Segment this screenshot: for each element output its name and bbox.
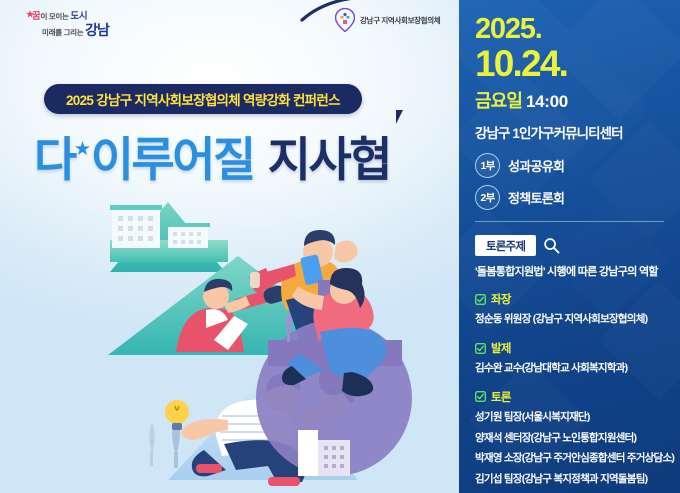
event-time-row: 금요일14:00 [475, 87, 666, 113]
gangnam-slogan-logo: 꿈이 모이는 도시 미래를 그리는 강남 [14, 8, 122, 36]
panel-divider [475, 221, 664, 222]
section-chair-title: 좌장 [491, 291, 511, 307]
page-title: 다 이루어질 지사협 [34, 124, 454, 186]
section-chair: 좌장 정순동 위원장 (강남구 지역사회보장협의체) [475, 291, 666, 328]
section-panel: 토론 성기원 팀장(서울시복지재단) 양재석 센터장(강남구 노인통합지원센터)… [475, 389, 666, 493]
conference-ribbon-text: 2025 강남구 지역사회보장협의체 역량강화 컨퍼런스 [66, 89, 340, 109]
section-panel-title: 토론 [491, 389, 511, 405]
star-icon [75, 141, 90, 156]
program-part-row: 2부 정책토론회 [475, 185, 666, 210]
section-presenter-header: 발제 [475, 340, 666, 356]
chair-person: 정순동 위원장 (강남구 지역사회보장협의체) [475, 312, 666, 328]
panelist: 양재석 센터장(강남구 노인통합지원센터) [475, 431, 666, 447]
presenter-person: 김수완 교수(강남대학교 사회복지학과) [475, 361, 666, 377]
ribbon-tail [396, 110, 406, 124]
program-parts-list: 1부 성과공유회 2부 정책토론회 [475, 153, 666, 210]
panelist: 김기섭 팀장(강남구 복지정책과 지역돌봄팀) [475, 472, 666, 488]
topic-chip-label: 토론주제 [475, 235, 536, 256]
event-year: 2025. [475, 14, 666, 44]
title-swoosh-decoration [300, 0, 370, 22]
left-content-pane: 꿈이 모이는 도시 미래를 그리는 강남 강남구 지역사회보장협의체 2025 … [0, 0, 459, 493]
topic-header: 토론주제 [475, 235, 666, 256]
topic-statement: '돌봄통합지원법' 시행에 따른 강남구의 역할 [475, 263, 666, 279]
event-date: 10.24. [475, 45, 666, 84]
event-venue: 강남구 1인가구커뮤니티센터 [475, 122, 666, 142]
event-info-content: 2025. 10.24. 금요일14:00 강남구 1인가구커뮤니티센터 1부 … [459, 0, 680, 493]
section-panel-header: 토론 [475, 389, 666, 405]
event-time: 14:00 [526, 92, 568, 111]
building-group-left [110, 205, 210, 248]
section-chair-header: 좌장 [475, 291, 666, 307]
section-presenter-title: 발제 [491, 340, 511, 356]
magnifier-icon [543, 237, 560, 254]
part-badge-1: 1부 [475, 153, 500, 178]
check-square-icon [475, 343, 486, 354]
check-square-icon [475, 294, 486, 305]
part-label-2: 정책토론회 [508, 188, 564, 207]
conference-ribbon: 2025 강남구 지역사회보장협의체 역량강화 컨퍼런스 [44, 84, 362, 114]
gangnam-brand-word: 강남 [85, 22, 109, 38]
event-day-of-week: 금요일 [475, 91, 522, 111]
part-label-1: 성과공유회 [508, 156, 564, 175]
section-presenter: 발제 김수완 교수(강남대학교 사회복지학과) [475, 340, 666, 377]
council-logo-text: 강남구 지역사회보장협의체 [360, 15, 440, 26]
check-square-icon [475, 391, 486, 402]
poster-root: 꿈이 모이는 도시 미래를 그리는 강남 강남구 지역사회보장협의체 2025 … [0, 0, 680, 493]
slogan-line-2-pre: 미래를 그리는 [42, 28, 85, 37]
event-info-panel: 2025. 10.24. 금요일14:00 강남구 1인가구커뮤니티센터 1부 … [459, 0, 680, 493]
panelist: 성기원 팀장(서울시복지재단) [475, 410, 666, 426]
title-star-wrap [75, 133, 91, 177]
illustration-scene [0, 180, 459, 493]
program-part-row: 1부 성과공유회 [475, 153, 666, 178]
poster-header: 꿈이 모이는 도시 미래를 그리는 강남 강남구 지역사회보장협의체 [0, 0, 459, 42]
panelist: 박재영 소장(강남구 주거안심종합센터 주거상담소) [475, 451, 666, 467]
slogan-line-2: 미래를 그리는 강남 [42, 20, 109, 40]
part-badge-2: 2부 [475, 185, 500, 210]
